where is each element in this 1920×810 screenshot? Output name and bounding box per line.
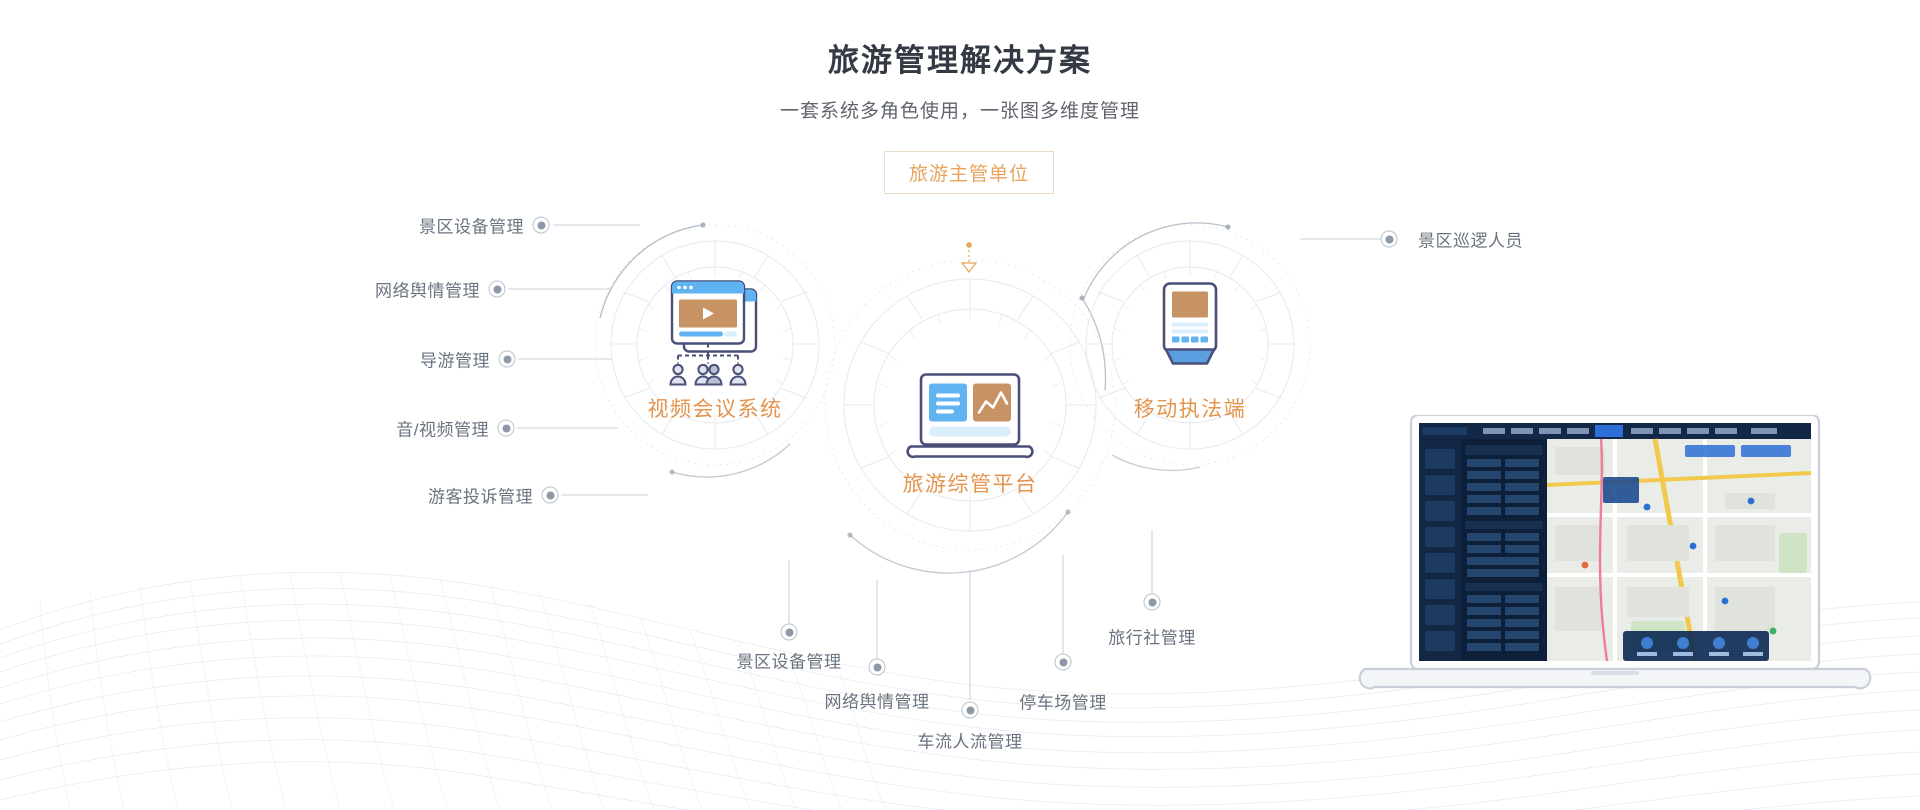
- bottom-dot-2: [869, 659, 886, 676]
- hub-title-mobile-text: 移动执法端: [1134, 398, 1247, 421]
- left-label-2: 网络舆情管理: [375, 277, 480, 302]
- authority-connector: [962, 242, 976, 272]
- bottom-label-4: 停车场管理: [1019, 689, 1107, 714]
- bottom-dot-3: [962, 702, 979, 719]
- bottom-label-5: 旅行社管理: [1108, 624, 1196, 649]
- hub-title-platform-text: 旅游综管平台: [903, 473, 1038, 496]
- bottom-label-1: 景区设备管理: [737, 648, 842, 673]
- laptop-dashboard-icon: [905, 371, 1035, 470]
- left-label-5: 游客投诉管理: [428, 483, 533, 508]
- left-dot-5: [542, 487, 559, 504]
- left-dot-3: [499, 351, 516, 368]
- handheld-terminal-icon: [1152, 278, 1228, 383]
- authority-box: 旅游主管单位: [884, 151, 1054, 194]
- video-window-icon: [652, 278, 778, 403]
- left-dot-4: [498, 420, 515, 437]
- bottom-dot-1: [781, 624, 798, 641]
- right-label-1: 景区巡逻人员: [1418, 227, 1523, 252]
- hub-title-platform: 旅游综管平台: [903, 468, 1038, 498]
- bottom-label-2: 网络舆情管理: [825, 688, 930, 713]
- left-connectors: [508, 225, 648, 495]
- left-label-1: 景区设备管理: [419, 213, 524, 238]
- page-title: 旅游管理解决方案: [0, 40, 1920, 82]
- hub-title-video-text: 视频会议系统: [648, 398, 783, 421]
- bottom-dot-5: [1144, 594, 1161, 611]
- infographic-page: 旅游管理解决方案 一套系统多角色使用，一张图多维度管理: [0, 0, 1920, 810]
- left-dot-1: [533, 217, 550, 234]
- authority-label: 旅游主管单位: [909, 159, 1029, 186]
- product-screenshot-mockup: [1355, 415, 1900, 750]
- left-label-4: 音/视频管理: [396, 416, 489, 441]
- hub-title-video: 视频会议系统: [648, 393, 783, 423]
- bottom-dot-4: [1055, 654, 1072, 671]
- bottom-connectors: [789, 530, 1152, 700]
- bottom-label-3: 车流人流管理: [918, 728, 1023, 753]
- page-subtitle: 一套系统多角色使用，一张图多维度管理: [0, 98, 1920, 126]
- hub-title-mobile: 移动执法端: [1134, 393, 1247, 423]
- right-dot-1: [1381, 231, 1398, 248]
- header: 旅游管理解决方案 一套系统多角色使用，一张图多维度管理: [0, 40, 1920, 126]
- left-dot-2: [489, 281, 506, 298]
- left-label-3: 导游管理: [420, 347, 490, 372]
